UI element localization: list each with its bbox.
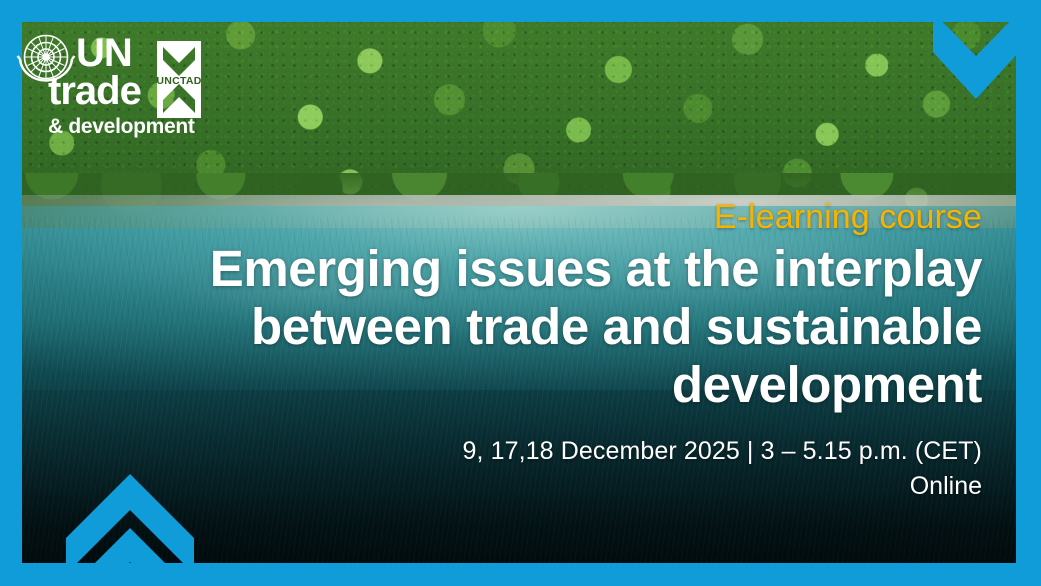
event-location: Online xyxy=(62,469,982,504)
headline-line-2: between trade and sustainable xyxy=(62,298,982,356)
event-banner: UN trade & development UNCTAD E-learning… xyxy=(0,0,1041,586)
headline-line-3: development xyxy=(62,356,982,414)
logo-line-development: & development xyxy=(48,115,195,138)
course-type-label: E-learning course xyxy=(62,196,982,238)
unctad-mark-label: UNCTAD xyxy=(156,75,201,87)
banner-copy: E-learning course Emerging issues at the… xyxy=(62,196,982,504)
chevron-down-icon xyxy=(911,0,1041,110)
event-datetime: 9, 17,18 December 2025 | 3 – 5.15 p.m. (… xyxy=(62,434,982,469)
unctad-logo: UN trade & development UNCTAD xyxy=(14,20,204,142)
page-title: Emerging issues at the interplay between… xyxy=(62,240,982,414)
headline-line-1: Emerging issues at the interplay xyxy=(62,240,982,298)
unctad-mark-icon: UNCTAD xyxy=(156,41,201,118)
logo-line-trade: trade xyxy=(48,69,141,113)
